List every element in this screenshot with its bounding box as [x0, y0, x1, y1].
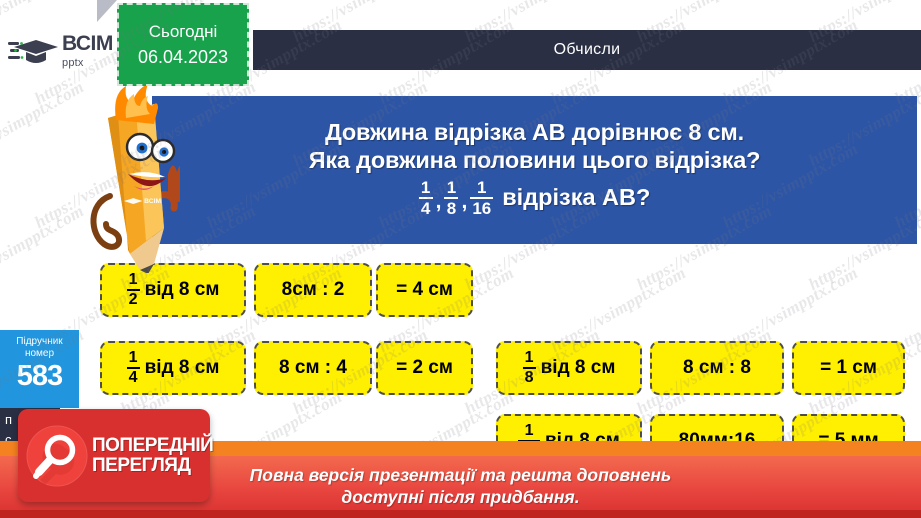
card-label: = 4 см — [396, 279, 453, 301]
card-label: від 8 см — [541, 357, 616, 379]
header-bar: Обчисли — [253, 28, 921, 72]
question-separator-2: , — [461, 190, 467, 217]
fraction-numerator: 1 — [419, 179, 432, 196]
card-label: = 2 см — [396, 357, 453, 379]
card-fraction: 1 8 — [523, 350, 536, 386]
question-tail-text: відрізка AB? — [502, 184, 650, 211]
fraction-denominator: 8 — [445, 200, 458, 217]
preview-button[interactable]: ПОПЕРЕДНІЙ ПЕРЕГЛЯД — [18, 409, 210, 502]
fraction-numerator: 1 — [127, 350, 140, 366]
card-label: від 8 см — [145, 357, 220, 379]
card-label: 8 см : 4 — [279, 357, 347, 379]
fraction-denominator: 4 — [127, 370, 140, 386]
fraction-numerator: 1 — [127, 272, 140, 288]
logo-subtitle: pptx — [62, 57, 84, 69]
card-fraction-quarter[interactable]: 1 4 від 8 см — [100, 341, 246, 395]
fraction-denominator: 2 — [127, 292, 140, 308]
brand-logo: ВСІМ pptx — [0, 26, 132, 76]
card-label: = 1 см — [820, 357, 877, 379]
question-line-1: Довжина відрізка AB дорівнює 8 см. — [325, 119, 744, 147]
card-expression-eighth[interactable]: 8 см : 8 — [650, 341, 784, 395]
preview-label-line-2: ПЕРЕГЛЯД — [92, 456, 213, 475]
card-result-half[interactable]: = 4 см — [376, 263, 473, 317]
card-label: 8 см : 8 — [683, 357, 751, 379]
question-fraction-1: 1 4 — [419, 179, 433, 217]
textbook-number-badge: Підручник номер 583 — [0, 330, 79, 408]
card-fraction-eighth[interactable]: 1 8 від 8 см — [496, 341, 642, 395]
question-fraction-3: 1 16 — [470, 179, 493, 217]
fraction-numerator: 1 — [475, 179, 488, 196]
fraction-numerator: 1 — [523, 350, 536, 366]
question-separator-1: , — [436, 190, 442, 217]
date-badge-fold — [97, 0, 117, 22]
card-label: 8см : 2 — [282, 279, 345, 301]
footer-bottom-bar — [0, 510, 921, 518]
question-panel: Довжина відрізка AB дорівнює 8 см. Яка д… — [152, 96, 917, 244]
textbook-badge-number: 583 — [0, 360, 79, 393]
fraction-denominator: 16 — [470, 200, 493, 217]
preview-button-label: ПОПЕРЕДНІЙ ПЕРЕГЛЯД — [92, 436, 213, 475]
logo-name: ВСІМ — [62, 32, 113, 55]
graduation-cap-icon — [8, 34, 60, 68]
pencil-mascot-icon: ВСІМ — [84, 78, 180, 273]
watermark-text: https://vsimpptx.com — [0, 201, 88, 295]
textbook-badge-label-2: номер — [0, 348, 79, 360]
date-badge-value: 06.04.2023 — [138, 47, 228, 68]
question-line-3: 1 4 , 1 8 , 1 16 відрізка AB? — [419, 179, 651, 217]
watermark-text: https://vsimpptx.com — [0, 77, 88, 171]
card-result-eighth[interactable]: = 1 см — [792, 341, 905, 395]
fraction-numerator: 1 — [445, 179, 458, 196]
card-result-quarter[interactable]: = 2 см — [376, 341, 473, 395]
preview-label-line-1: ПОПЕРЕДНІЙ — [92, 435, 213, 456]
card-fraction: 1 2 — [127, 272, 140, 308]
fraction-denominator: 8 — [523, 370, 536, 386]
textbook-badge-label-1: Підручник — [0, 336, 79, 348]
card-expression-quarter[interactable]: 8 см : 4 — [254, 341, 372, 395]
date-badge: Сьогодні 06.04.2023 — [117, 3, 249, 86]
fraction-denominator: 4 — [419, 200, 432, 217]
slide-canvas: Обчисли ВСІМ — [0, 0, 921, 518]
card-label: від 8 см — [145, 279, 220, 301]
magnifier-icon — [26, 425, 88, 487]
svg-text:ВСІМ: ВСІМ — [144, 198, 161, 205]
card-fraction: 1 4 — [127, 350, 140, 386]
question-line-2: Яка довжина половини цього відрізка? — [309, 147, 761, 175]
footer-line-2: доступні після придбання. — [341, 487, 579, 509]
date-badge-label: Сьогодні — [149, 22, 218, 42]
question-fraction-2: 1 8 — [444, 179, 458, 217]
page-title: Обчисли — [554, 41, 621, 59]
fraction-numerator: 1 — [523, 423, 536, 439]
card-expression-half[interactable]: 8см : 2 — [254, 263, 372, 317]
footer-line-1: Повна версія презентації та решта доповн… — [250, 465, 672, 487]
